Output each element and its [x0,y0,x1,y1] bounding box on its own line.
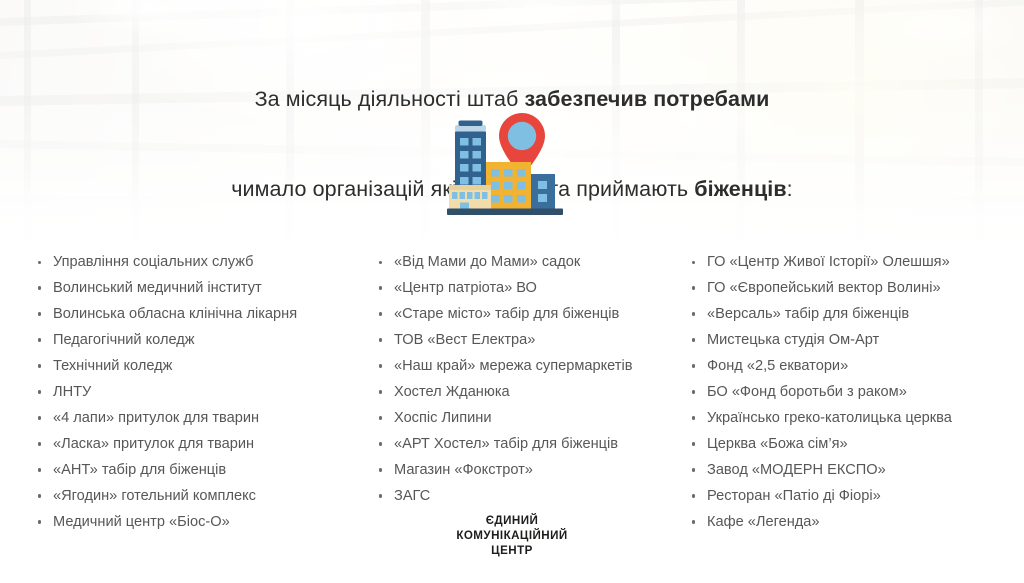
footer-logo-line-1: ЄДИНИЙ [0,513,1024,528]
bullet-icon [379,442,382,445]
list-item-label: Ресторан «Патіо ді Фіорі» [707,488,881,504]
city-illustration-svg [447,112,577,224]
bullet-icon [379,286,382,289]
list-item-label: Волинський медичний інститут [53,280,262,296]
list-item-label: «Ласка» притулок для тварин [53,436,254,452]
bullet-icon [38,494,41,497]
bullet-icon [379,390,382,393]
organisations-list-1: Управління соціальних служб Волинський м… [36,251,366,533]
bullet-icon [38,468,41,471]
list-item-label: Управління соціальних служб [53,254,254,270]
list-item: Мистецька студія Ом-Арт [690,329,1010,352]
right-blue-building [531,174,555,209]
bullet-icon [692,494,695,497]
bullet-icon [692,338,695,341]
organisations-column-3: ГО «Центр Живої Історії» Олешшя» ГО «Євр… [690,251,1010,537]
bullet-icon [379,416,382,419]
bullet-icon [692,468,695,471]
bullet-icon [692,312,695,315]
bullet-icon [692,364,695,367]
organisations-list-3: ГО «Центр Живої Історії» Олешшя» ГО «Євр… [690,251,1010,533]
list-item-label: ЛНТУ [53,384,91,400]
ground-bar [447,209,563,216]
yellow-building [486,162,531,209]
list-item: «Ласка» притулок для тварин [36,433,366,456]
list-item-label: Хоспіс Липини [394,410,491,426]
list-item: «АРТ Хостел» табір для біженців [377,433,682,456]
list-item: Хоспіс Липини [377,407,682,430]
list-item: «Центр патріота» ВО [377,277,682,300]
list-item-label: Педагогічний коледж [53,332,195,348]
bullet-icon [38,261,41,264]
bullet-icon [692,416,695,419]
list-item-label: «АРТ Хостел» табір для біженців [394,436,618,452]
list-item: ЗАГС [377,485,682,508]
bullet-icon [379,261,382,264]
list-item-label: ГО «Європейський вектор Волині» [707,280,941,296]
list-item: Хостел Жданюка [377,381,682,404]
bullet-icon [38,312,41,315]
list-item-label: БО «Фонд боротьби з раком» [707,384,907,400]
list-item-label: Технічний коледж [53,358,172,374]
bullet-icon [379,338,382,341]
list-item-label: Фонд «2,5 екватори» [707,358,848,374]
list-item-label: «Старе місто» табір для біженців [394,306,619,322]
list-item: «Старе місто» табір для біженців [377,303,682,326]
list-item: «Від Мами до Мами» садок [377,251,682,274]
headline-line-2-colon: : [787,177,793,201]
list-item-label: Волинська обласна клінічна лікарня [53,306,297,322]
list-item: «Наш край» мережа супермаркетів [377,355,682,378]
organisations-list-2: «Від Мами до Мами» садок «Центр патріота… [377,251,682,507]
bullet-icon [379,364,382,367]
bullet-icon [38,390,41,393]
list-item-label: Завод «МОДЕРН ЕКСПО» [707,462,886,478]
bullet-icon [38,338,41,341]
list-item-label: ТОВ «Вест Електра» [394,332,535,348]
list-item: Магазин «Фокстрот» [377,459,682,482]
list-item: Українсько греко-католицька церква [690,407,1010,430]
list-item-label: Українсько греко-католицька церква [707,410,952,426]
list-item-label: «Версаль» табір для біженців [707,306,909,322]
list-item: Волинський медичний інститут [36,277,366,300]
bullet-icon [692,442,695,445]
bullet-icon [38,364,41,367]
list-item: ЛНТУ [36,381,366,404]
list-item-label: «Наш край» мережа супермаркетів [394,358,632,374]
slide-canvas: За місяць діяльності штаб забезпечив пот… [0,0,1024,583]
list-item-label: ЗАГС [394,488,430,504]
footer-logo-line-2: КОМУНІКАЦІЙНИЙ [0,528,1024,543]
organisations-column-2: «Від Мами до Мами» садок «Центр патріота… [377,251,682,511]
bullet-icon [379,312,382,315]
list-item-label: «Від Мами до Мами» садок [394,254,580,270]
list-item: ГО «Центр Живої Історії» Олешшя» [690,251,1010,274]
list-item-label: «АНТ» табір для біженців [53,462,226,478]
cream-shop-building [449,185,491,209]
list-item: Педагогічний коледж [36,329,366,352]
list-item-label: ГО «Центр Живої Історії» Олешшя» [707,254,950,270]
list-item: Фонд «2,5 екватори» [690,355,1010,378]
list-item-label: «Центр патріота» ВО [394,280,537,296]
list-item-label: Магазин «Фокстрот» [394,462,533,478]
headline-line-2-bold: біженців [694,177,786,201]
headline-line-1: За місяць діяльності штаб забезпечив пот… [0,84,1024,114]
organisations-column-1: Управління соціальних служб Волинський м… [36,251,366,537]
list-item: Управління соціальних служб [36,251,366,274]
headline-line-1-bold: забезпечив потребами [525,87,770,111]
bullet-icon [692,286,695,289]
list-item: ТОВ «Вест Електра» [377,329,682,352]
list-item-label: «Ягодин» готельний комплекс [53,488,256,504]
list-item: Завод «МОДЕРН ЕКСПО» [690,459,1010,482]
list-item-label: Хостел Жданюка [394,384,510,400]
bullet-icon [692,261,695,264]
list-item-label: «4 лапи» притулок для тварин [53,410,259,426]
bullet-icon [38,416,41,419]
list-item: «АНТ» табір для біженців [36,459,366,482]
list-item: Церква «Божа сім’я» [690,433,1010,456]
organisations-columns: Управління соціальних служб Волинський м… [0,251,1024,501]
bullet-icon [379,494,382,497]
city-buildings-map-pin-illustration [447,112,577,224]
footer-logo: ЄДИНИЙ КОМУНІКАЦІЙНИЙ ЦЕНТР [0,513,1024,559]
bullet-icon [38,442,41,445]
list-item: «Версаль» табір для біженців [690,303,1010,326]
list-item: «Ягодин» готельний комплекс [36,485,366,508]
bullet-icon [692,390,695,393]
list-item: Ресторан «Патіо ді Фіорі» [690,485,1010,508]
list-item: «4 лапи» притулок для тварин [36,407,366,430]
list-item: Волинська обласна клінічна лікарня [36,303,366,326]
list-item: БО «Фонд боротьби з раком» [690,381,1010,404]
footer-logo-line-3: ЦЕНТР [0,543,1024,558]
headline-line-1-plain: За місяць діяльності штаб [255,87,525,111]
bullet-icon [379,468,382,471]
bullet-icon [38,286,41,289]
list-item: Технічний коледж [36,355,366,378]
list-item-label: Церква «Божа сім’я» [707,436,848,452]
list-item-label: Мистецька студія Ом-Арт [707,332,879,348]
list-item: ГО «Європейський вектор Волині» [690,277,1010,300]
